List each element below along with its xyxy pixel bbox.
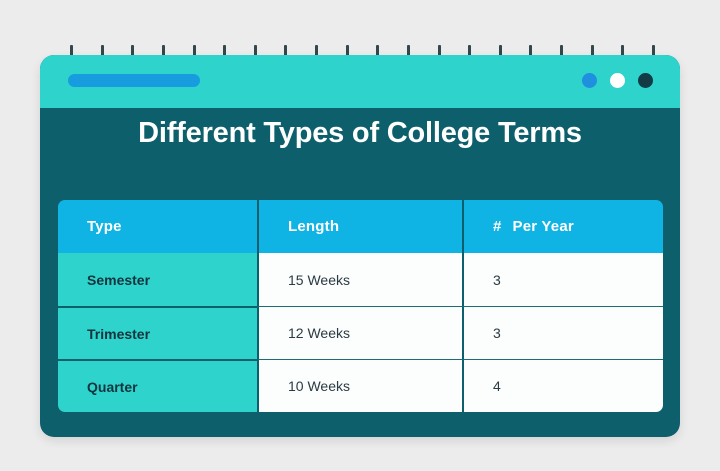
column-header-length: Length (257, 200, 462, 253)
blue-dot-icon (582, 73, 597, 88)
cell-term-per-year: 3 (462, 306, 663, 359)
dark-dot-icon (638, 73, 653, 88)
cell-term-type: Semester (58, 253, 257, 306)
cell-term-per-year: 4 (462, 359, 663, 412)
college-terms-table: Type Length # Per Year Semester 15 Weeks… (58, 200, 663, 412)
per-year-label: Per Year (513, 218, 574, 235)
table-row: Semester 15 Weeks 3 (58, 253, 663, 306)
column-header-per-year: # Per Year (462, 200, 663, 253)
cell-term-length: 10 Weeks (257, 359, 462, 412)
cell-term-per-year: 3 (462, 253, 663, 306)
table-header-row: Type Length # Per Year (58, 200, 663, 253)
white-dot-icon (610, 73, 625, 88)
browser-mock-card: Different Types of College Terms Type Le… (40, 55, 680, 437)
table-row: Trimester 12 Weeks 3 (58, 306, 663, 359)
cell-term-length: 15 Weeks (257, 253, 462, 306)
url-bar[interactable] (68, 74, 200, 87)
cell-term-type: Quarter (58, 359, 257, 412)
column-header-type: Type (58, 200, 257, 253)
cell-term-length: 12 Weeks (257, 306, 462, 359)
table-row: Quarter 10 Weeks 4 (58, 359, 663, 412)
hash-symbol: # (493, 218, 502, 235)
infographic-canvas: Different Types of College Terms Type Le… (0, 0, 720, 471)
cell-term-type: Trimester (58, 306, 257, 359)
page-title: Different Types of College Terms (40, 117, 680, 150)
browser-toolbar (40, 55, 680, 108)
